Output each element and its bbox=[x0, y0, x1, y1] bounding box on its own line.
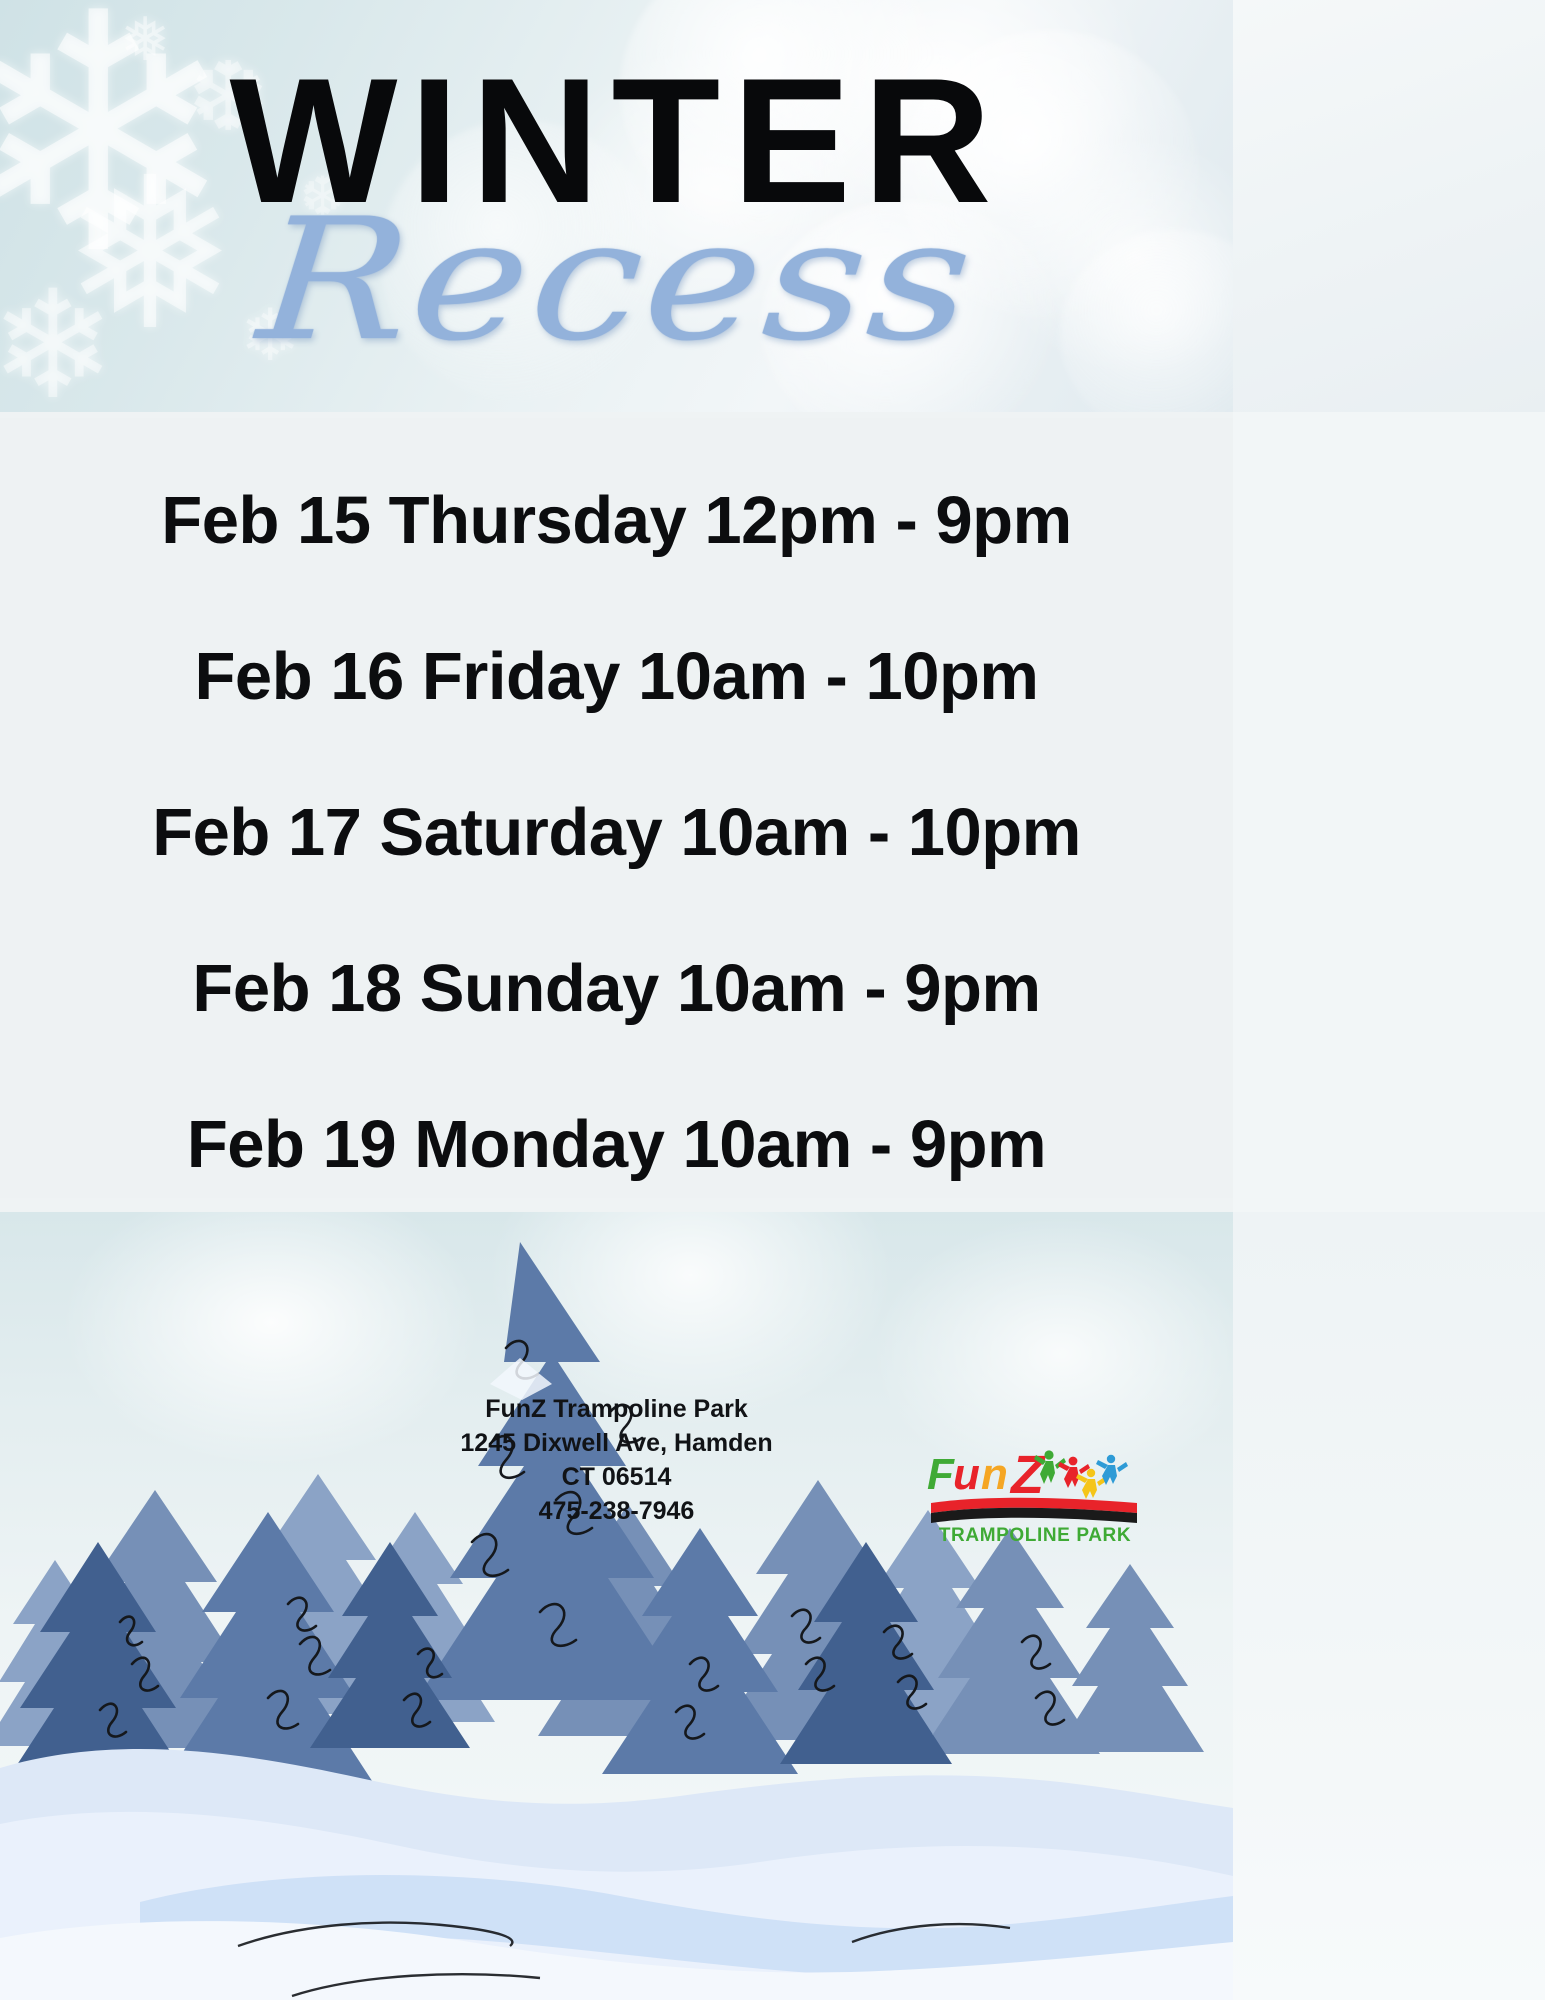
funz-logo-graphic: F u n Z bbox=[925, 1443, 1145, 1551]
schedule-row: Feb 17 Saturday 10am - 10pm bbox=[0, 754, 1233, 910]
schedule-row: Feb 15 Thursday 12pm - 9pm bbox=[0, 442, 1233, 598]
page-right-margin bbox=[1233, 412, 1545, 1212]
logo-letter-u: u bbox=[953, 1450, 980, 1499]
jumping-figure-icon bbox=[1034, 1450, 1128, 1499]
winter-scene bbox=[0, 1212, 1233, 2000]
schedule-list: Feb 15 Thursday 12pm - 9pm Feb 16 Friday… bbox=[0, 418, 1233, 1198]
logo-tagline: TRAMPOLINE PARK bbox=[939, 1525, 1131, 1546]
schedule-row: Feb 19 Monday 10am - 9pm bbox=[0, 1066, 1233, 1222]
winter-scene-graphic bbox=[0, 1212, 1233, 2000]
schedule-row: Feb 16 Friday 10am - 10pm bbox=[0, 598, 1233, 754]
page-title-winter: WINTER bbox=[0, 52, 1233, 230]
scene-right-margin bbox=[1233, 1212, 1545, 2000]
logo-letter-n: n bbox=[981, 1450, 1008, 1499]
schedule-row: Feb 18 Sunday 10am - 9pm bbox=[0, 910, 1233, 1066]
business-name: FunZ Trampoline Park bbox=[0, 1392, 1233, 1426]
logo-letter-f: F bbox=[927, 1450, 955, 1499]
winter-recess-flyer: ❄ ❅ ❄ ❆ ❄ ❅ ❆ WINTER Recess Feb 15 Thurs… bbox=[0, 0, 1545, 2000]
funz-logo[interactable]: F u n Z bbox=[925, 1443, 1145, 1551]
